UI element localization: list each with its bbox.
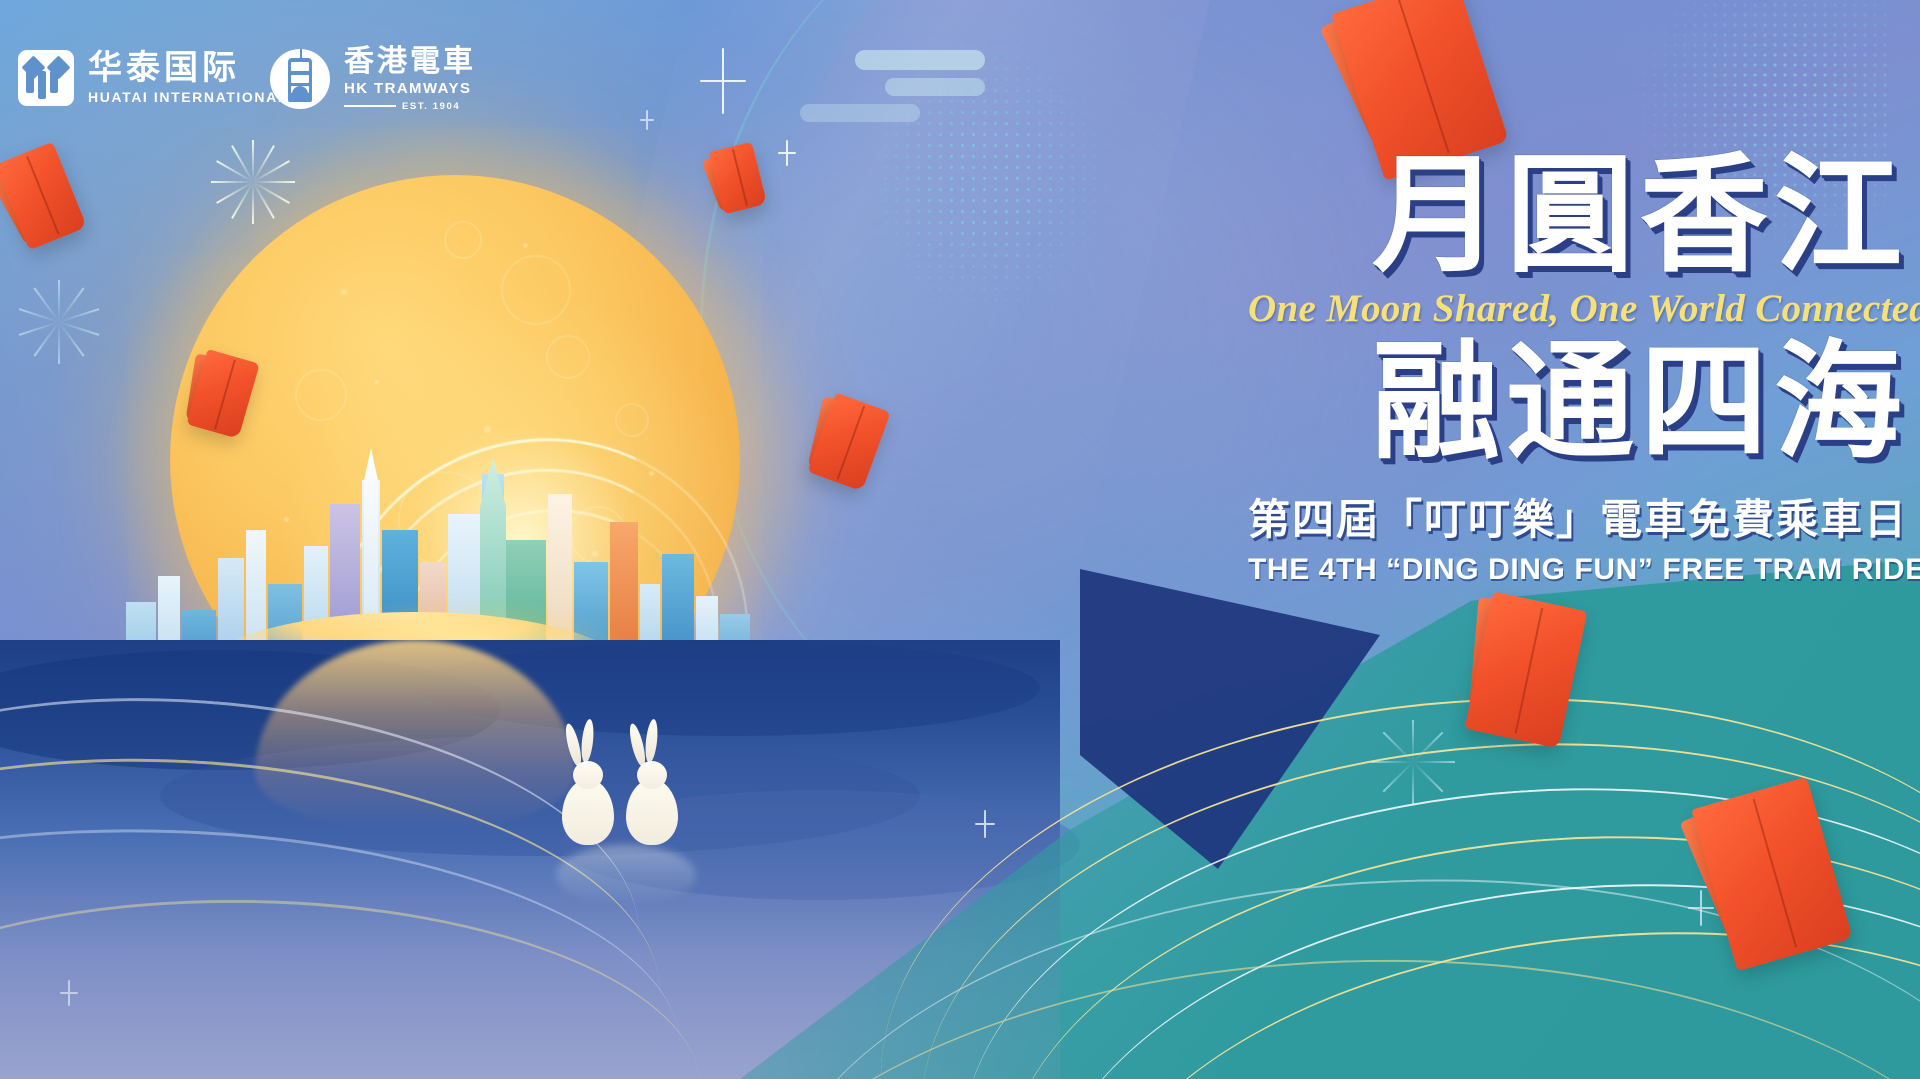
cloud-bar xyxy=(855,50,985,70)
red-lantern xyxy=(709,142,767,215)
mid-autumn-event-poster: 华泰国际 HUATAI INTERNATIONAL 香港電車 HK TRAMWA… xyxy=(0,0,1920,1079)
hk-tramways-logo-icon xyxy=(270,49,330,109)
brand-logos: 华泰国际 HUATAI INTERNATIONAL 香港電車 HK TRAMWA… xyxy=(0,0,620,160)
firework-burst xyxy=(56,320,60,324)
sparkle-star-icon xyxy=(1688,890,1714,926)
english-tagline: One Moon Shared, One World Connected xyxy=(1248,286,1908,331)
cloud-bar xyxy=(800,104,920,122)
hk-tramways-established: EST. 1904 xyxy=(344,101,476,112)
huatai-logo-icon xyxy=(18,50,74,106)
huatai-name-cn: 华泰国际 xyxy=(88,51,288,87)
sparkle-star-icon xyxy=(975,810,995,838)
hk-tramways-logo[interactable]: 香港電車 HK TRAMWAYS EST. 1904 xyxy=(270,46,476,112)
rabbit-left xyxy=(562,779,614,845)
rabbit-right xyxy=(626,779,678,845)
headline-line-2: 融通四海 xyxy=(1248,335,1908,471)
hk-tramways-name-cn: 香港電車 xyxy=(344,46,476,78)
sparkle-star-icon xyxy=(60,980,78,1006)
firework-burst xyxy=(250,180,254,184)
rabbit-reflection xyxy=(556,845,696,905)
headline-block: 月圓香江 One Moon Shared, One World Connecte… xyxy=(1248,148,1908,587)
sparkle-star-icon xyxy=(778,140,796,166)
subtitle-english: THE 4TH “DING DING FUN” FREE TRAM RIDE D… xyxy=(1248,553,1908,587)
firework-burst xyxy=(1410,760,1414,764)
halftone-dots-left xyxy=(880,30,1180,360)
huatai-name-en: HUATAI INTERNATIONAL xyxy=(88,89,288,105)
subtitle-chinese: 第四屆「叮叮樂」電車免費乘車日 xyxy=(1248,486,1908,547)
hk-tramways-name-en: HK TRAMWAYS xyxy=(344,80,476,97)
sparkle-star-icon xyxy=(640,110,654,130)
sparkle-star-icon xyxy=(700,48,746,114)
moon-rabbits xyxy=(556,695,696,885)
headline-line-1: 月圓香江 xyxy=(1248,148,1908,284)
huatai-logo[interactable]: 华泰国际 HUATAI INTERNATIONAL xyxy=(18,50,288,106)
cloud-bar xyxy=(885,78,985,96)
